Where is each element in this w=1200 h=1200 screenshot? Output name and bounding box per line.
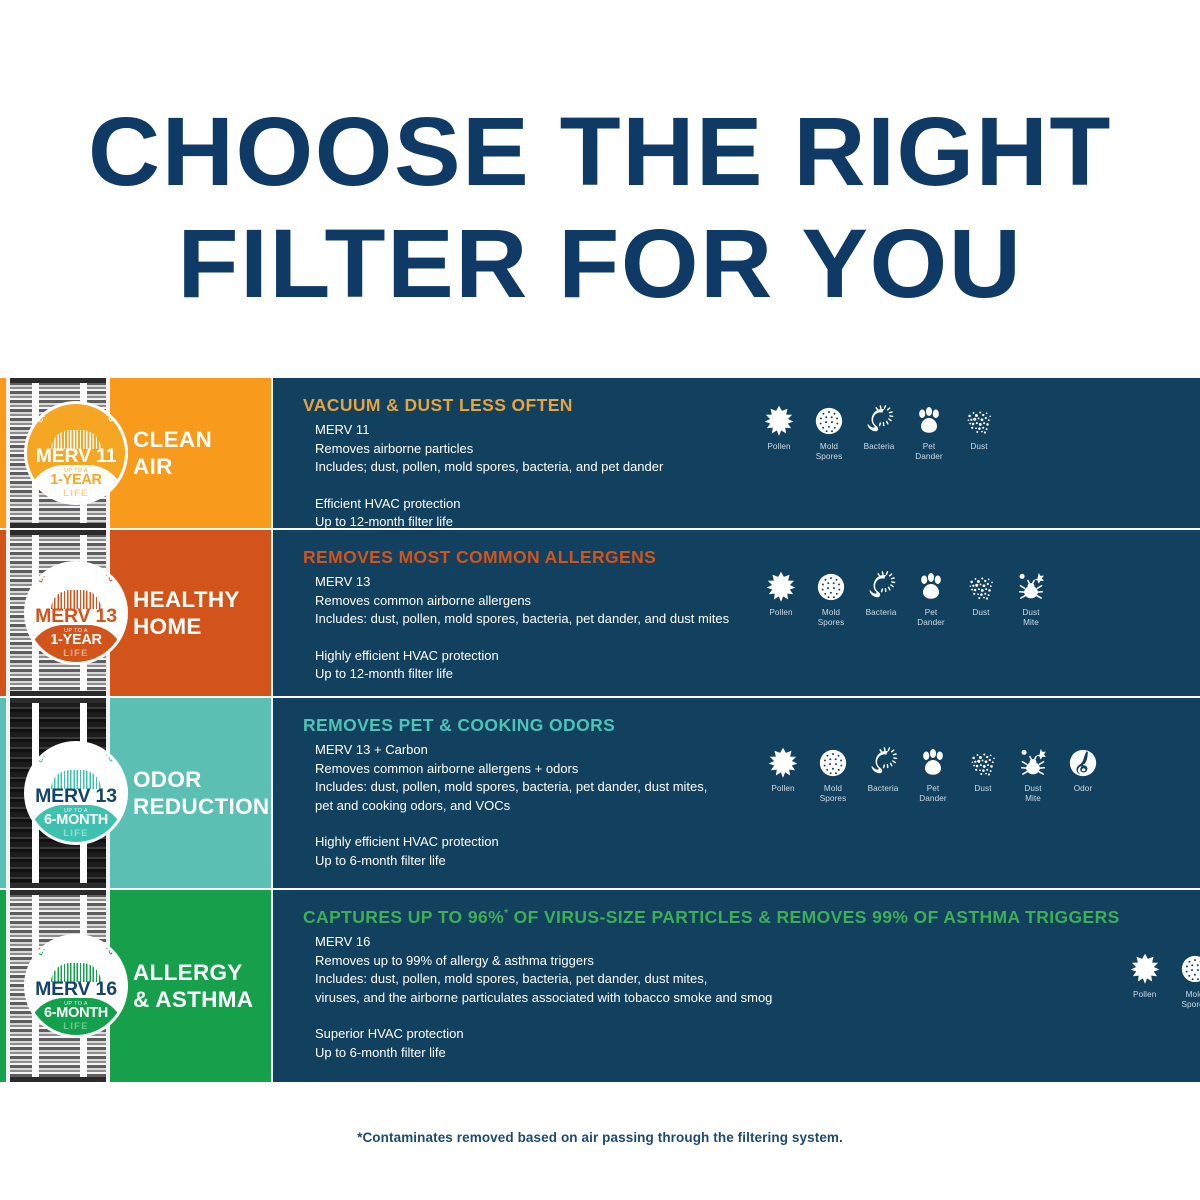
left-panel-odor-reduction: EFFICIENCY RATINGMERV 13UP TO A6-MONTHLI… <box>0 698 271 888</box>
detail-body-clean-air: MERV 11Removes airborne particlesInclude… <box>303 421 754 532</box>
detail-footer-line: Highly efficient HVAC protection <box>315 647 756 666</box>
badge-life-block: UP TO A1-YEARLIFE <box>27 625 125 662</box>
badge-life-word: LIFE <box>63 828 88 839</box>
mold-spores-icon <box>812 404 846 438</box>
icon-label: Pollen <box>769 608 792 618</box>
contaminant-mold-spores: Mold Spores <box>806 570 856 627</box>
detail-footer-line: Highly efficient HVAC protection <box>315 833 758 852</box>
svg-text:EFFICIENCY RATING: EFFICIENCY RATING <box>35 569 117 584</box>
detail-body-odor-reduction: MERV 13 + CarbonRemoves common airborne … <box>303 741 758 870</box>
badge-life-block: UP TO A6-MONTHLIFE <box>27 998 125 1035</box>
icon-label: Odor <box>1074 784 1093 794</box>
contaminant-icons-healthy-home: Pollen Mold Spores Bacteria <box>756 564 1056 627</box>
merv-badge-clean-air: EFFICIENCY RATINGMERV 11UP TO A1-YEARLIF… <box>24 401 128 505</box>
contaminant-dust: Dust <box>958 746 1008 794</box>
page-title-line-2: FILTER FOR YOU <box>0 208 1200 320</box>
icon-label: Bacteria <box>866 608 897 618</box>
left-panel-clean-air: EFFICIENCY RATINGMERV 11UP TO A1-YEARLIF… <box>0 378 271 528</box>
detail-body-line: viruses, and the airborne particulates a… <box>315 989 1120 1008</box>
contaminant-pollen: Pollen <box>754 404 804 452</box>
icon-label: Mold Spores <box>820 784 847 803</box>
category-label-allergy-asthma: ALLERGY & ASTHMA <box>133 959 253 1013</box>
left-panel-allergy-asthma: EFFICIENCY RATINGMERV 16UP TO A6-MONTHLI… <box>0 890 271 1082</box>
merv-badge-healthy-home: EFFICIENCY RATINGMERV 13UP TO A1-YEARLIF… <box>24 561 128 665</box>
badge-merv-value: MERV 11 <box>27 446 125 466</box>
detail-body-line: Removes common airborne allergens <box>315 592 756 611</box>
category-label-odor-reduction: ODOR REDUCTION <box>133 766 269 820</box>
detail-heading-healthy-home: REMOVES MOST COMMON ALLERGENS <box>303 546 756 568</box>
contaminant-dust: Dust <box>954 404 1004 452</box>
contaminant-pollen: Pollen <box>1120 952 1170 1000</box>
filter-row-odor-reduction: EFFICIENCY RATINGMERV 13UP TO A6-MONTHLI… <box>0 698 1200 890</box>
badge-life-value: 6-MONTH <box>44 813 108 828</box>
dust-mite-icon <box>1016 746 1050 780</box>
detail-body-line: Removes up to 99% of allergy & asthma tr… <box>315 952 1120 971</box>
icon-label: Bacteria <box>864 442 895 452</box>
icon-label: Dust Mite <box>1022 608 1039 627</box>
mold-spores-icon <box>1178 952 1200 986</box>
contaminant-pet-dander: Pet Dander <box>908 746 958 803</box>
detail-text-allergy-asthma: CAPTURES UP TO 96%* OF VIRUS-SIZE PARTIC… <box>303 906 1120 1062</box>
detail-footer-line: Efficient HVAC protection <box>315 495 754 514</box>
badge-life-block: UP TO A1-YEARLIFE <box>27 465 125 502</box>
filter-row-allergy-asthma: EFFICIENCY RATINGMERV 16UP TO A6-MONTHLI… <box>0 890 1200 1082</box>
dust-icon <box>962 404 996 438</box>
mold-spores-icon <box>816 746 850 780</box>
odor-icon <box>1066 746 1100 780</box>
icon-label: Dust Mite <box>1024 784 1041 803</box>
contaminant-pet-dander: Pet Dander <box>904 404 954 461</box>
contaminant-mold-spores: Mold Spores <box>808 746 858 803</box>
detail-footer-line: Superior HVAC protection <box>315 1025 1120 1044</box>
detail-panel-healthy-home: REMOVES MOST COMMON ALLERGENSMERV 13Remo… <box>271 530 1200 696</box>
detail-body-line: Removes common airborne allergens + odor… <box>315 760 758 779</box>
contaminant-dust: Dust <box>956 570 1006 618</box>
body-spacer <box>315 629 756 647</box>
badge-upto-label: UP TO A <box>64 468 88 474</box>
category-label-clean-air: CLEAN AIR <box>133 426 212 480</box>
contaminant-dust-mite: Dust Mite <box>1006 570 1056 627</box>
icon-label: Mold Spores <box>818 608 845 627</box>
bacteria-icon <box>862 404 896 438</box>
icon-label: Dust <box>972 608 989 618</box>
bacteria-icon <box>864 570 898 604</box>
contaminant-bacteria: Bacteria <box>854 404 904 452</box>
badge-merv-value: MERV 13 <box>27 786 125 806</box>
badge-life-value: 1-YEAR <box>50 473 101 488</box>
pollen-icon <box>762 404 796 438</box>
dust-icon <box>964 570 998 604</box>
icon-label: Bacteria <box>868 784 899 794</box>
bacteria-icon <box>866 746 900 780</box>
detail-heading-allergy-asthma: CAPTURES UP TO 96%* OF VIRUS-SIZE PARTIC… <box>303 906 1120 928</box>
badge-life-word: LIFE <box>63 648 88 659</box>
pet-dander-icon <box>914 570 948 604</box>
detail-body-line: MERV 13 <box>315 573 756 592</box>
detail-text-clean-air: VACUUM & DUST LESS OFTENMERV 11Removes a… <box>303 394 754 532</box>
badge-upto-label: UP TO A <box>64 808 88 814</box>
dust-mite-icon <box>1014 570 1048 604</box>
svg-text:EFFICIENCY RATING: EFFICIENCY RATING <box>35 409 117 424</box>
left-panel-healthy-home: EFFICIENCY RATINGMERV 13UP TO A1-YEARLIF… <box>0 530 271 696</box>
contaminant-mold-spores: Mold Spores <box>1170 952 1200 1009</box>
detail-footer-line: Up to 6-month filter life <box>315 852 758 871</box>
detail-body-line: Removes airborne particles <box>315 440 754 459</box>
icon-label: Pollen <box>771 784 794 794</box>
filter-rows: EFFICIENCY RATINGMERV 11UP TO A1-YEARLIF… <box>0 378 1200 1082</box>
filter-row-healthy-home: EFFICIENCY RATINGMERV 13UP TO A1-YEARLIF… <box>0 530 1200 698</box>
asterisk-marker: * <box>504 908 508 919</box>
detail-panel-odor-reduction: REMOVES PET & COOKING ODORSMERV 13 + Car… <box>271 698 1200 888</box>
detail-body-line: MERV 16 <box>315 933 1120 952</box>
infographic-page: CHOOSE THE RIGHT FILTER FOR YOU EFFICIEN… <box>0 0 1200 1200</box>
detail-body-allergy-asthma: MERV 16Removes up to 99% of allergy & as… <box>303 933 1120 1062</box>
icon-label: Pollen <box>1133 990 1156 1000</box>
badge-merv-value: MERV 13 <box>27 606 125 626</box>
badge-life-word: LIFE <box>63 488 88 499</box>
detail-heading-odor-reduction: REMOVES PET & COOKING ODORS <box>303 714 758 736</box>
icon-label: Pet Dander <box>919 784 946 803</box>
pet-dander-icon <box>912 404 946 438</box>
dust-icon <box>966 746 1000 780</box>
merv-badge-allergy-asthma: EFFICIENCY RATINGMERV 16UP TO A6-MONTHLI… <box>24 934 128 1038</box>
mold-spores-icon <box>814 570 848 604</box>
pollen-icon <box>764 570 798 604</box>
detail-text-odor-reduction: REMOVES PET & COOKING ODORSMERV 13 + Car… <box>303 714 758 870</box>
filter-row-clean-air: EFFICIENCY RATINGMERV 11UP TO A1-YEARLIF… <box>0 378 1200 530</box>
badge-merv-value: MERV 16 <box>27 979 125 999</box>
badge-life-value: 6-MONTH <box>44 1006 108 1021</box>
badge-upto-label: UP TO A <box>64 1001 88 1007</box>
svg-text:EFFICIENCY RATING: EFFICIENCY RATING <box>35 942 117 957</box>
pollen-icon <box>766 746 800 780</box>
detail-body-line: Includes; dust, pollen, mold spores, bac… <box>315 458 754 477</box>
detail-body-line: Includes: dust, pollen, mold spores, bac… <box>315 970 1120 989</box>
contaminant-bacteria: Bacteria <box>858 746 908 794</box>
icon-label: Dust <box>970 442 987 452</box>
contaminant-pollen: Pollen <box>756 570 806 618</box>
badge-life-block: UP TO A6-MONTHLIFE <box>27 805 125 842</box>
body-spacer <box>315 1007 1120 1025</box>
pet-dander-icon <box>916 746 950 780</box>
contaminant-pollen: Pollen <box>758 746 808 794</box>
detail-body-line: Includes: dust, pollen, mold spores, bac… <box>315 610 756 629</box>
contaminant-mold-spores: Mold Spores <box>804 404 854 461</box>
icon-label: Mold Spores <box>1181 990 1200 1009</box>
icon-label: Pet Dander <box>915 442 942 461</box>
detail-heading-clean-air: VACUUM & DUST LESS OFTEN <box>303 394 754 416</box>
icon-label: Mold Spores <box>816 442 843 461</box>
detail-text-healthy-home: REMOVES MOST COMMON ALLERGENSMERV 13Remo… <box>303 546 756 684</box>
detail-panel-clean-air: VACUUM & DUST LESS OFTENMERV 11Removes a… <box>271 378 1200 528</box>
detail-panel-allergy-asthma: CAPTURES UP TO 96%* OF VIRUS-SIZE PARTIC… <box>271 890 1200 1082</box>
footnote: *Contaminates removed based on air passi… <box>0 1130 1200 1145</box>
contaminant-icons-allergy-asthma: Pollen Mold Spores Bacteria <box>1120 946 1200 1009</box>
badge-upto-label: UP TO A <box>64 628 88 634</box>
body-spacer <box>315 815 758 833</box>
page-title: CHOOSE THE RIGHT FILTER FOR YOU <box>0 96 1200 320</box>
detail-footer-line: Up to 12-month filter life <box>315 665 756 684</box>
contaminant-icons-odor-reduction: Pollen Mold Spores Bacteria <box>758 740 1108 803</box>
contaminant-icons-clean-air: Pollen Mold Spores Bacteria <box>754 398 1004 461</box>
icon-label: Pollen <box>767 442 790 452</box>
body-spacer <box>315 477 754 495</box>
pollen-icon <box>1128 952 1162 986</box>
icon-label: Dust <box>974 784 991 794</box>
contaminant-pet-dander: Pet Dander <box>906 570 956 627</box>
merv-badge-odor-reduction: EFFICIENCY RATINGMERV 13UP TO A6-MONTHLI… <box>24 741 128 845</box>
contaminant-dust-mite: Dust Mite <box>1008 746 1058 803</box>
svg-text:EFFICIENCY RATING: EFFICIENCY RATING <box>35 749 117 764</box>
detail-footer-line: Up to 6-month filter life <box>315 1044 1120 1063</box>
detail-footer-line: Up to 12-month filter life <box>315 513 754 532</box>
page-title-line-1: CHOOSE THE RIGHT <box>0 96 1200 208</box>
contaminant-bacteria: Bacteria <box>856 570 906 618</box>
detail-body-healthy-home: MERV 13Removes common airborne allergens… <box>303 573 756 684</box>
contaminant-odor: Odor <box>1058 746 1108 794</box>
detail-body-line: MERV 11 <box>315 421 754 440</box>
badge-life-word: LIFE <box>63 1021 88 1032</box>
detail-body-line: pet and cooking odors, and VOCs <box>315 797 758 816</box>
detail-body-line: MERV 13 + Carbon <box>315 741 758 760</box>
icon-label: Pet Dander <box>917 608 944 627</box>
category-label-healthy-home: HEALTHY HOME <box>133 586 240 640</box>
badge-life-value: 1-YEAR <box>50 633 101 648</box>
detail-body-line: Includes: dust, pollen, mold spores, bac… <box>315 778 758 797</box>
